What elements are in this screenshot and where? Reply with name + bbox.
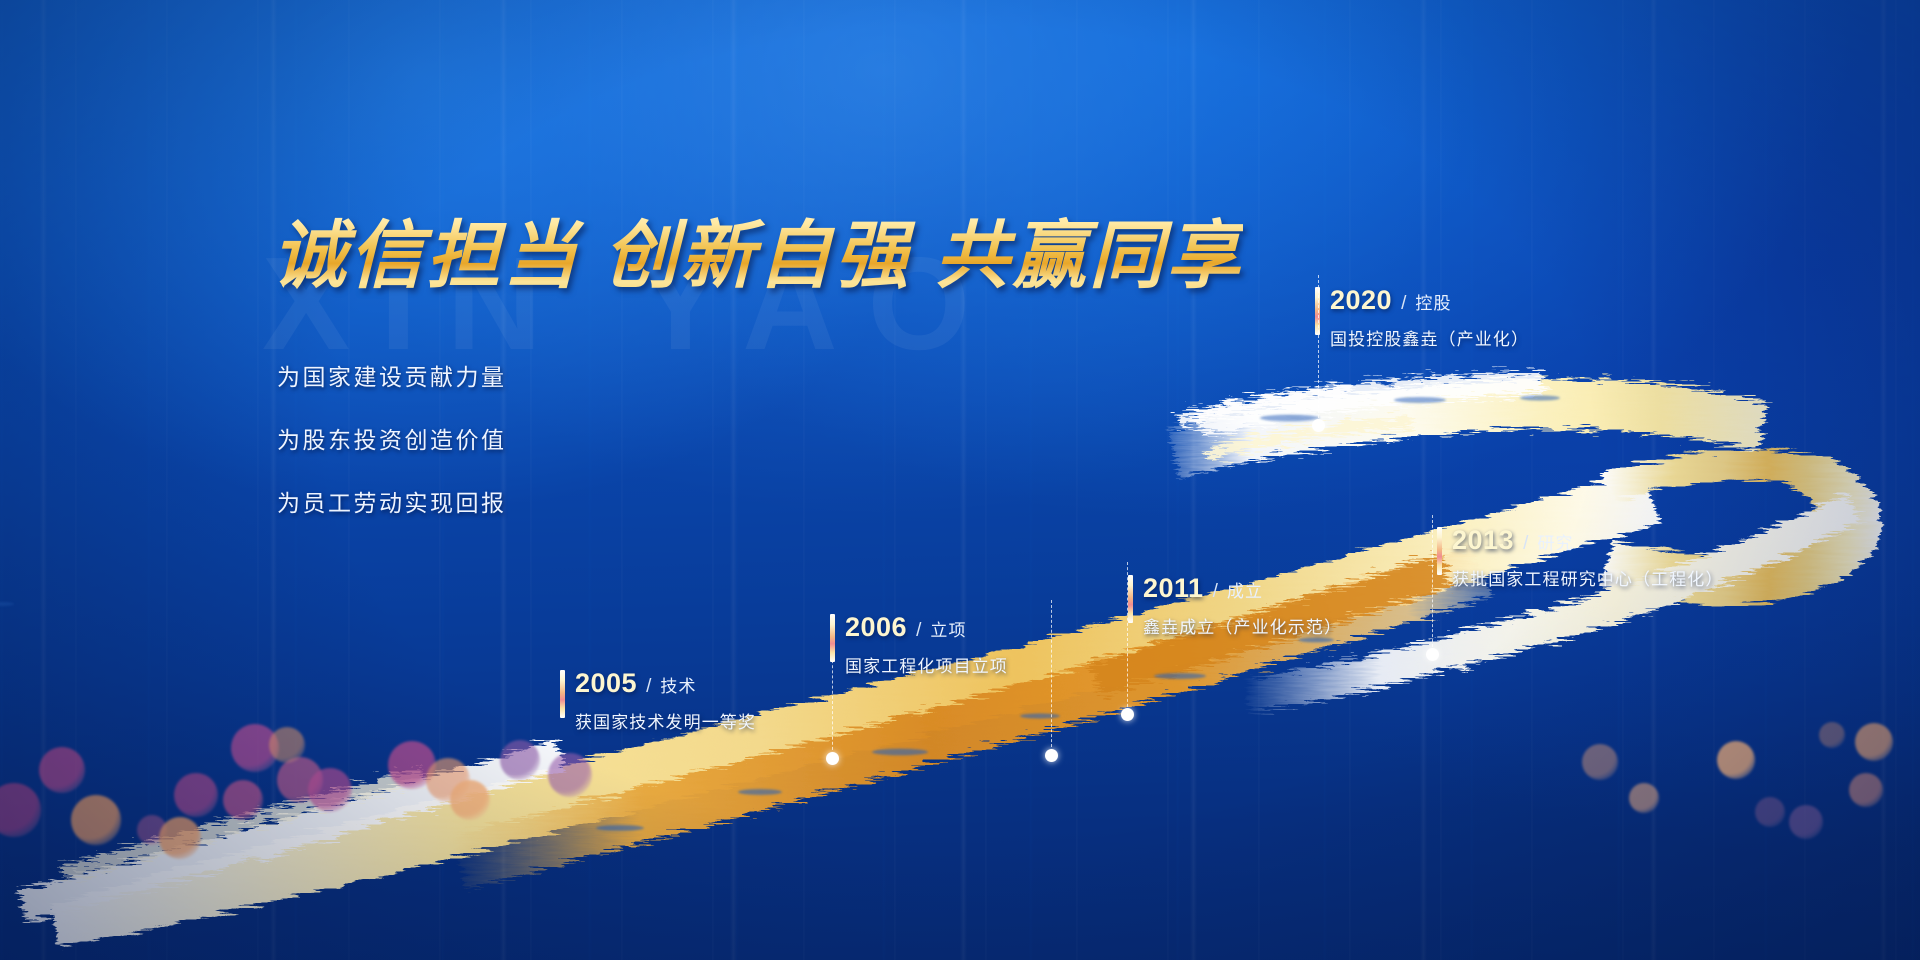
bokeh-circle	[1849, 773, 1883, 807]
timeline-item-2013[interactable]: 2013/研究获批国家工程研究中心（工程化）	[1452, 525, 1724, 590]
timeline-tag: 立项	[930, 616, 966, 641]
bokeh-circle	[159, 817, 201, 859]
timeline-separator: /	[1213, 581, 1218, 603]
timeline-node-dot[interactable]	[1121, 708, 1134, 721]
slogan-list: 为国家建设贡献力量 为股东投资创造价值 为员工劳动实现回报	[277, 358, 507, 518]
timeline-node-dot[interactable]	[1045, 749, 1058, 762]
bokeh-circle	[1789, 805, 1823, 839]
bokeh-circle	[0, 783, 41, 837]
timeline-tag: 成立	[1227, 577, 1263, 602]
timeline-description: 国家工程化项目立项	[845, 652, 1008, 677]
timeline-item-2020[interactable]: 2020/控股国投控股鑫垚（产业化）	[1330, 285, 1529, 350]
page-title: 诚信担当 创新自强 共赢同享	[272, 196, 1243, 303]
bokeh-circle	[1582, 744, 1618, 780]
timeline-description: 获国家技术发明一等奖	[575, 708, 756, 733]
timeline-heading: 2005/技术	[575, 668, 756, 699]
timeline-separator: /	[1401, 293, 1406, 315]
timeline-tag: 控股	[1415, 289, 1451, 314]
bokeh-circle	[1755, 797, 1785, 827]
bokeh-circle	[308, 768, 352, 812]
timeline-marker-bar	[1315, 287, 1320, 335]
bokeh-circle	[223, 780, 263, 820]
bokeh-circle	[71, 795, 121, 845]
slogan-line-1: 为国家建设贡献力量	[277, 358, 507, 392]
bokeh-circle	[426, 758, 470, 802]
timeline-node-dot[interactable]	[826, 752, 839, 765]
bokeh-circle	[388, 741, 436, 789]
timeline-year: 2006	[845, 612, 907, 643]
timeline-connector-line	[1051, 600, 1052, 752]
timeline-marker-bar	[1437, 527, 1442, 575]
timeline-item-2005[interactable]: 2005/技术获国家技术发明一等奖	[575, 668, 756, 733]
timeline-tag: 技术	[660, 672, 696, 697]
timeline-marker-bar	[830, 614, 835, 662]
bokeh-circle	[1855, 723, 1893, 761]
bokeh-circle	[1717, 741, 1755, 779]
timeline-description: 国投控股鑫垚（产业化）	[1330, 325, 1529, 350]
timeline-item-2011[interactable]: 2011/成立鑫垚成立（产业化示范）	[1143, 573, 1342, 638]
bokeh-circle	[39, 747, 85, 793]
timeline-separator: /	[646, 676, 651, 698]
bokeh-circle	[174, 773, 218, 817]
bokeh-circle	[137, 815, 167, 845]
slogan-line-3: 为员工劳动实现回报	[277, 484, 507, 518]
timeline-year: 2013	[1452, 525, 1514, 556]
timeline-year: 2005	[575, 668, 637, 699]
timeline-heading: 2013/研究	[1452, 525, 1724, 556]
timeline-tag: 研究	[1537, 529, 1573, 554]
timeline-year: 2011	[1143, 573, 1204, 604]
timeline-connector-line	[832, 655, 833, 755]
timeline-heading: 2006/立项	[845, 612, 1008, 643]
timeline-heading: 2020/控股	[1330, 285, 1529, 316]
timeline-heading: 2011/成立	[1143, 573, 1342, 604]
timeline-marker-bar	[1128, 575, 1133, 623]
bokeh-circle	[1819, 722, 1845, 748]
timeline-description: 鑫垚成立（产业化示范）	[1143, 613, 1342, 638]
bokeh-circle	[500, 740, 540, 780]
bokeh-circle	[269, 727, 305, 763]
timeline-connector-line	[1432, 515, 1433, 652]
timeline-description: 获批国家工程研究中心（工程化）	[1452, 565, 1724, 590]
banner-canvas: XIN YAO 诚信担当 创新自强 共赢同享 为国家建设贡献力量 为股东投资创造…	[0, 0, 1920, 960]
timeline-marker-bar	[560, 670, 565, 718]
timeline-node-dot[interactable]	[1426, 648, 1439, 661]
timeline-separator: /	[1523, 533, 1528, 555]
timeline-separator: /	[916, 620, 921, 642]
bokeh-circle	[231, 724, 279, 772]
bokeh-circle	[1629, 783, 1659, 813]
bokeh-circle	[548, 753, 592, 797]
timeline-node-dot[interactable]	[1312, 419, 1325, 432]
bokeh-circle	[450, 780, 490, 820]
bokeh-circle	[277, 757, 323, 803]
slogan-line-2: 为股东投资创造价值	[277, 421, 507, 455]
timeline-item-2006[interactable]: 2006/立项国家工程化项目立项	[845, 612, 1008, 677]
timeline-year: 2020	[1330, 285, 1392, 316]
